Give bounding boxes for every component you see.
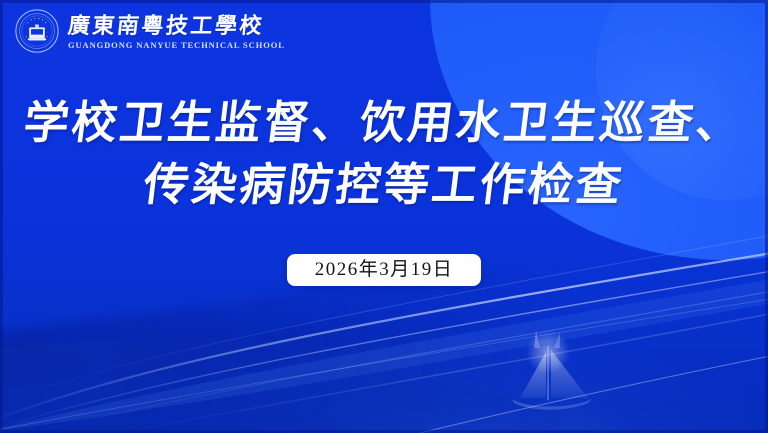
presentation-slide: 廣東南粵技工學校 GUANGDONG NANYUE TECHNICAL SCHO…	[0, 0, 768, 433]
page-title: 学校卫生监督、饮用水卫生巡查、 传染病防控等工作检查	[0, 92, 768, 216]
bottom-glow	[0, 273, 768, 433]
title-line-2: 传染病防控等工作检查	[0, 154, 768, 216]
school-name-en: GUANGDONG NANYUE TECHNICAL SCHOOL	[68, 39, 285, 51]
date-badge-text: 2026年3月19日	[315, 259, 454, 281]
school-logo-lockup: 廣東南粵技工學校 GUANGDONG NANYUE TECHNICAL SCHO…	[14, 8, 285, 54]
date-badge: 2026年3月19日	[287, 254, 481, 286]
school-name-cn: 廣東南粵技工學校	[67, 13, 287, 39]
school-crest-icon	[14, 8, 60, 54]
title-line-1: 学校卫生监督、饮用水卫生巡查、	[0, 92, 768, 154]
